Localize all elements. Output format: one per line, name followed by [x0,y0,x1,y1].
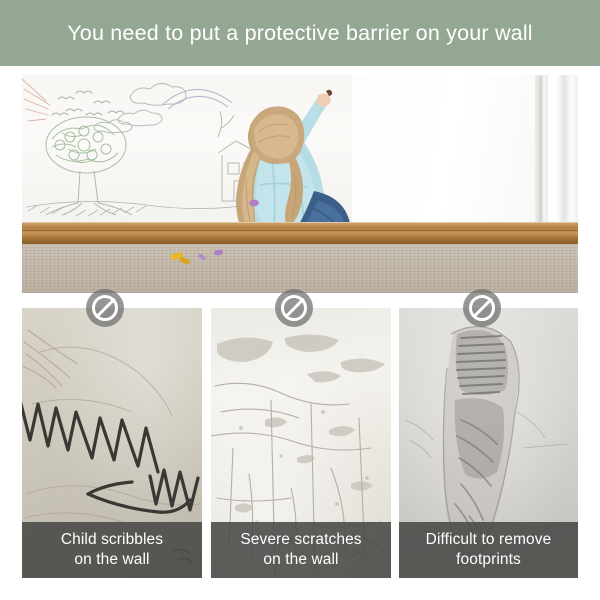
no-entry-icon-footprints [463,289,501,327]
panel-caption-severe-scratches: Severe scratcheson the wall [211,522,391,578]
no-entry-glyph [281,295,307,321]
no-entry-icon-severe-scratches [275,289,313,327]
problem-panel-severe-scratches: Severe scratcheson the wall [211,308,391,578]
problem-panel-row: Child scribbleson the wall [0,308,600,578]
problem-panel-footprints: Difficult to removefootprints [399,308,578,578]
problem-panel-child-scribbles: Child scribbleson the wall [22,308,202,578]
headline-text: You need to put a protective barrier on … [67,21,533,46]
carpet-floor [22,244,578,293]
no-entry-icon-child-scribbles [86,289,124,327]
header-banner: You need to put a protective barrier on … [0,0,600,66]
door-edge [535,75,542,227]
door-molding [542,75,578,231]
caption-text: Severe scratcheson the wall [228,530,373,570]
caption-text: Child scribbleson the wall [49,530,175,570]
hero-photo [22,75,578,293]
panel-caption-footprints: Difficult to removefootprints [399,522,578,578]
no-entry-glyph [92,295,118,321]
product-infographic: You need to put a protective barrier on … [0,0,600,600]
wood-baseboard [22,222,578,244]
no-entry-glyph [469,295,495,321]
caption-text: Difficult to removefootprints [414,530,564,570]
panel-caption-child-scribbles: Child scribbleson the wall [22,522,202,578]
